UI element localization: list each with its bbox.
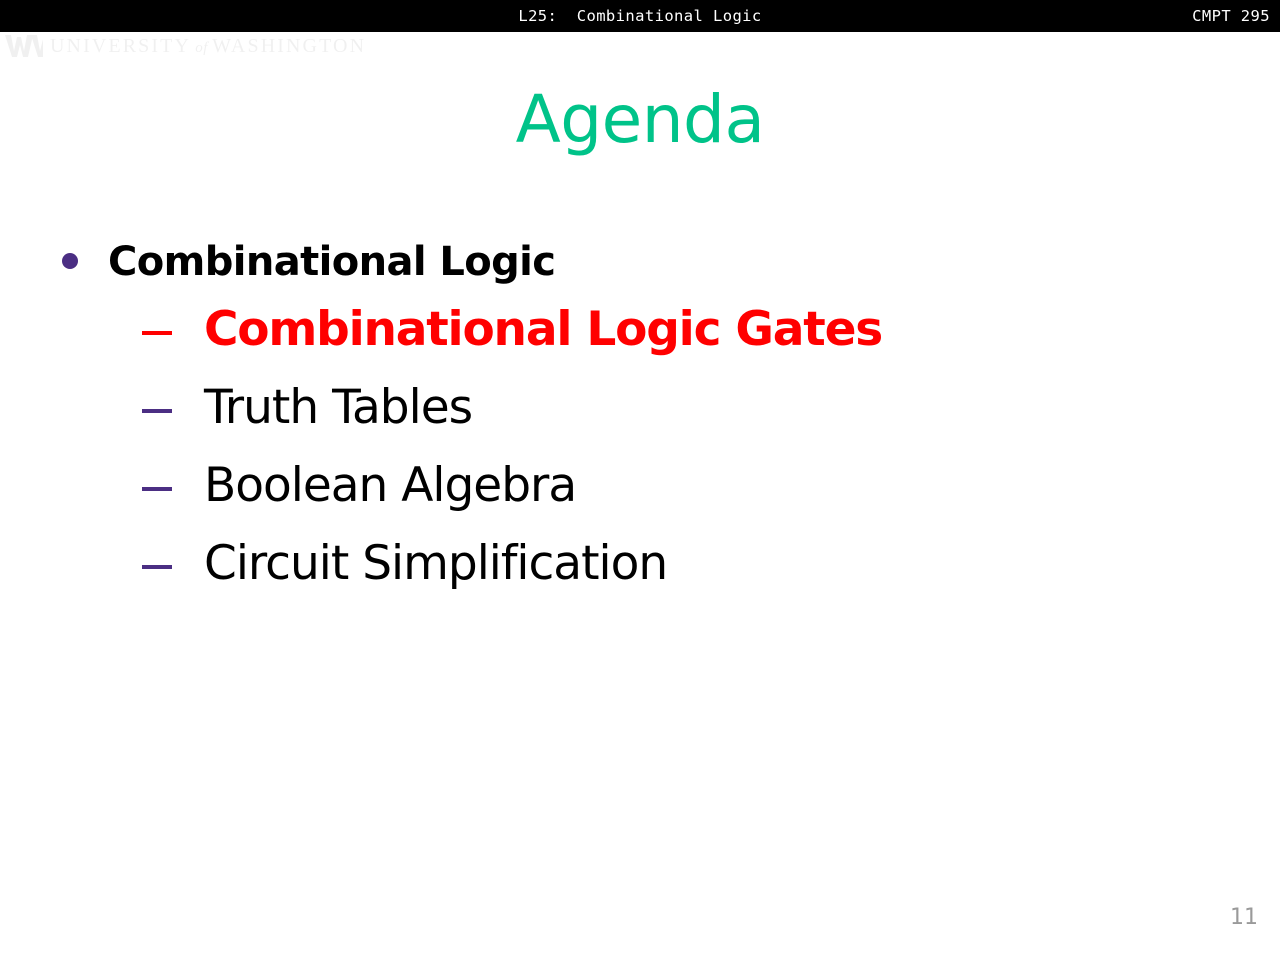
- agenda-subitem-boolean-algebra: Boolean Algebra: [142, 450, 1222, 522]
- course-code: CMPT 295: [1192, 0, 1270, 32]
- page-title: Agenda: [0, 78, 1280, 162]
- slide-canvas: L25: Combinational Logic CMPT 295 UNIVER…: [0, 0, 1280, 960]
- uw-wordmark: UNIVERSITY of WASHINGTON: [50, 35, 366, 58]
- agenda-item-level1: Combinational Logic: [62, 232, 1222, 292]
- uw-wordmark-washington: WASHINGTON: [212, 35, 366, 57]
- agenda-subitem-circuit-simplification: Circuit Simplification: [142, 528, 1222, 600]
- page-number: 11: [1230, 905, 1258, 930]
- university-of-washington-logo: UNIVERSITY of WASHINGTON: [4, 33, 366, 59]
- uw-wordmark-of: of: [191, 40, 212, 56]
- agenda-subitem-label: Circuit Simplification: [204, 528, 667, 600]
- agenda-subitem-label: Combinational Logic Gates: [204, 294, 882, 366]
- dash-icon: [142, 409, 172, 413]
- agenda-list: Combinational Logic Combinational Logic …: [62, 232, 1222, 606]
- agenda-item-level1-label: Combinational Logic: [108, 232, 555, 292]
- dash-icon: [142, 487, 172, 491]
- lecture-title: L25: Combinational Logic: [0, 0, 1280, 32]
- agenda-subitem-label: Truth Tables: [204, 372, 472, 444]
- dash-icon: [142, 565, 172, 569]
- agenda-subitem-label: Boolean Algebra: [204, 450, 576, 522]
- dash-icon: [142, 331, 172, 335]
- bullet-dot-icon: [62, 253, 78, 269]
- uw-wordmark-university: UNIVERSITY: [50, 35, 191, 57]
- agenda-subitem-combinational-logic-gates: Combinational Logic Gates: [142, 294, 1222, 366]
- agenda-subitem-truth-tables: Truth Tables: [142, 372, 1222, 444]
- top-status-bar: L25: Combinational Logic CMPT 295: [0, 0, 1280, 32]
